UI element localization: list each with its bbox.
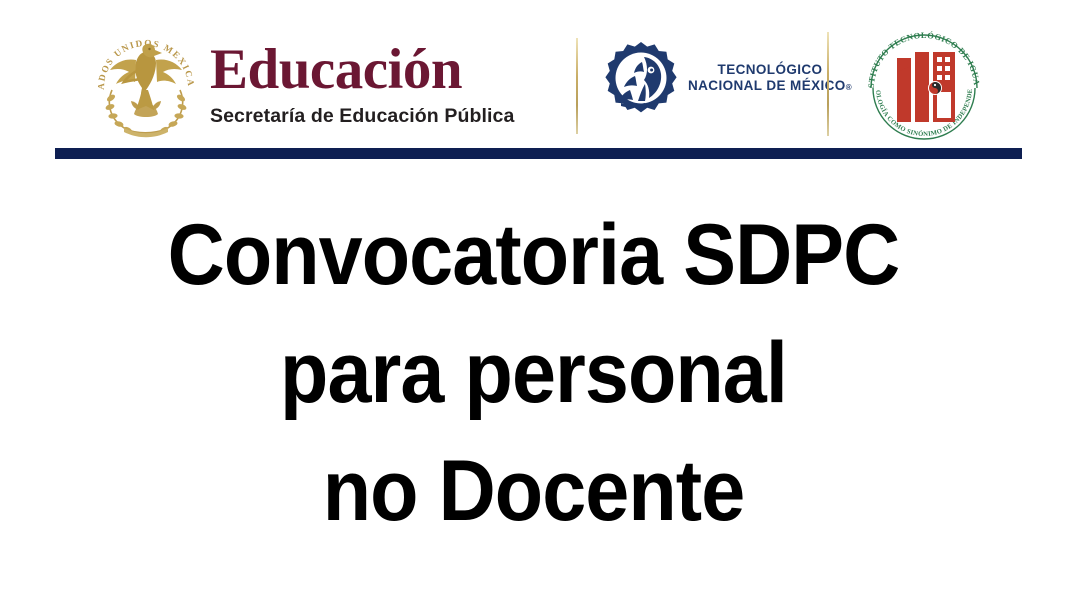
- header-rule: [55, 148, 1022, 159]
- logo-divider-1: [576, 38, 578, 134]
- instituto-tecnologico-de-iguala-seal-icon: INSTITUTO TECNOLÓGICO DE IGUALA "TECNOLO…: [855, 22, 993, 148]
- header-banner: ESTADOS UNIDOS MEXICANOS: [0, 0, 1067, 148]
- title-line-3: no Docente: [43, 432, 1025, 550]
- tecnm-gear-eagle-icon: [604, 40, 678, 116]
- tecnm-line-1: TECNOLÓGICO: [718, 62, 823, 78]
- page-title: Convocatoria SDPC para personal no Docen…: [0, 196, 1067, 550]
- tecnm-logo-block: TECNOLÓGICO NACIONAL DE MÉXICO®: [604, 40, 852, 116]
- title-line-1: Convocatoria SDPC: [43, 196, 1025, 314]
- logo-divider-2: [827, 32, 829, 136]
- title-line-2: para personal: [43, 314, 1025, 432]
- registered-mark-icon: ®: [846, 83, 852, 92]
- sep-subtitle: Secretaría de Educación Pública: [210, 105, 514, 128]
- sep-logo-block: ESTADOS UNIDOS MEXICANOS: [92, 28, 514, 140]
- sep-wordmark-group: Educación Secretaría de Educación Públic…: [210, 42, 514, 128]
- sep-wordmark: Educación: [210, 42, 514, 98]
- mexican-coat-of-arms-icon: ESTADOS UNIDOS MEXICANOS: [92, 28, 200, 140]
